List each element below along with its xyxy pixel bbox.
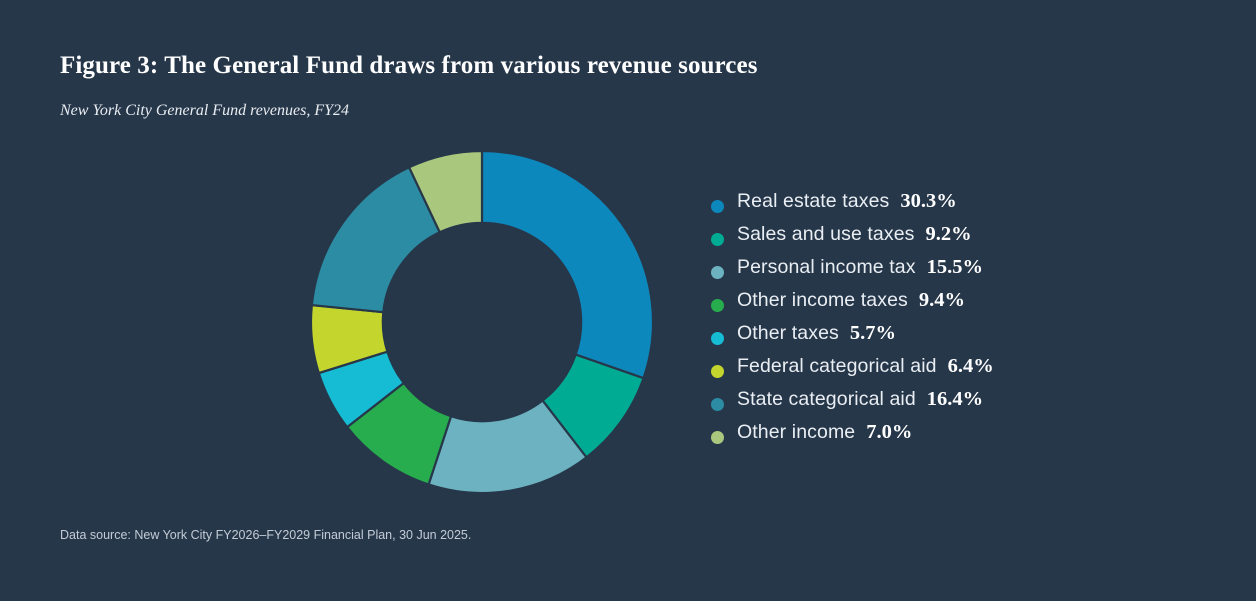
legend-color-dot xyxy=(711,299,724,312)
legend-color-dot xyxy=(711,431,724,444)
legend-swatch-icon xyxy=(711,233,737,246)
legend-swatch-icon xyxy=(711,398,737,411)
chart-legend: Real estate taxes30.3%Sales and use taxe… xyxy=(711,190,1211,454)
legend-item-label: Sales and use taxes xyxy=(737,223,915,246)
legend-color-dot xyxy=(711,398,724,411)
legend-swatch-icon xyxy=(711,200,737,213)
legend-swatch-icon xyxy=(711,431,737,444)
legend-item-label: Personal income tax xyxy=(737,256,916,279)
donut-chart: Real estate taxes 30.3%Sales and use tax… xyxy=(310,150,654,494)
legend-item-value: 9.2% xyxy=(926,223,972,246)
legend-item-label: State categorical aid xyxy=(737,388,916,411)
legend-item-label: Other income xyxy=(737,421,855,444)
legend-item-value: 6.4% xyxy=(948,355,994,378)
legend-item[interactable]: State categorical aid16.4% xyxy=(711,388,1211,421)
legend-item-value: 15.5% xyxy=(927,256,983,279)
source-note: Data source: New York City FY2026–FY2029… xyxy=(60,528,471,542)
legend-item[interactable]: Real estate taxes30.3% xyxy=(711,190,1211,223)
legend-item-value: 7.0% xyxy=(866,421,912,444)
legend-item[interactable]: Personal income tax15.5% xyxy=(711,256,1211,289)
legend-swatch-icon xyxy=(711,365,737,378)
legend-item[interactable]: Other taxes5.7% xyxy=(711,322,1211,355)
legend-item-label: Other taxes xyxy=(737,322,839,345)
donut-chart-svg: Real estate taxes 30.3%Sales and use tax… xyxy=(310,150,654,494)
legend-swatch-icon xyxy=(711,266,737,279)
donut-slice[interactable]: Real estate taxes 30.3% xyxy=(482,151,653,378)
legend-item-value: 16.4% xyxy=(927,388,983,411)
legend-item[interactable]: Other income7.0% xyxy=(711,421,1211,454)
legend-item[interactable]: Federal categorical aid6.4% xyxy=(711,355,1211,388)
donut-slice-group: Real estate taxes 30.3%Sales and use tax… xyxy=(311,151,653,493)
legend-color-dot xyxy=(711,200,724,213)
page-title: Figure 3: The General Fund draws from va… xyxy=(60,52,758,80)
legend-item[interactable]: Other income taxes9.4% xyxy=(711,289,1211,322)
legend-item-label: Other income taxes xyxy=(737,289,908,312)
legend-item-label: Real estate taxes xyxy=(737,190,889,213)
legend-item-value: 30.3% xyxy=(900,190,956,213)
legend-color-dot xyxy=(711,233,724,246)
legend-color-dot xyxy=(711,332,724,345)
legend-color-dot xyxy=(711,266,724,279)
chart-subtitle: New York City General Fund revenues, FY2… xyxy=(60,102,349,120)
legend-item[interactable]: Sales and use taxes9.2% xyxy=(711,223,1211,256)
legend-item-value: 5.7% xyxy=(850,322,896,345)
legend-item-value: 9.4% xyxy=(919,289,965,312)
legend-swatch-icon xyxy=(711,299,737,312)
figure-container: Figure 3: The General Fund draws from va… xyxy=(0,0,1256,601)
legend-swatch-icon xyxy=(711,332,737,345)
legend-item-label: Federal categorical aid xyxy=(737,355,937,378)
legend-color-dot xyxy=(711,365,724,378)
